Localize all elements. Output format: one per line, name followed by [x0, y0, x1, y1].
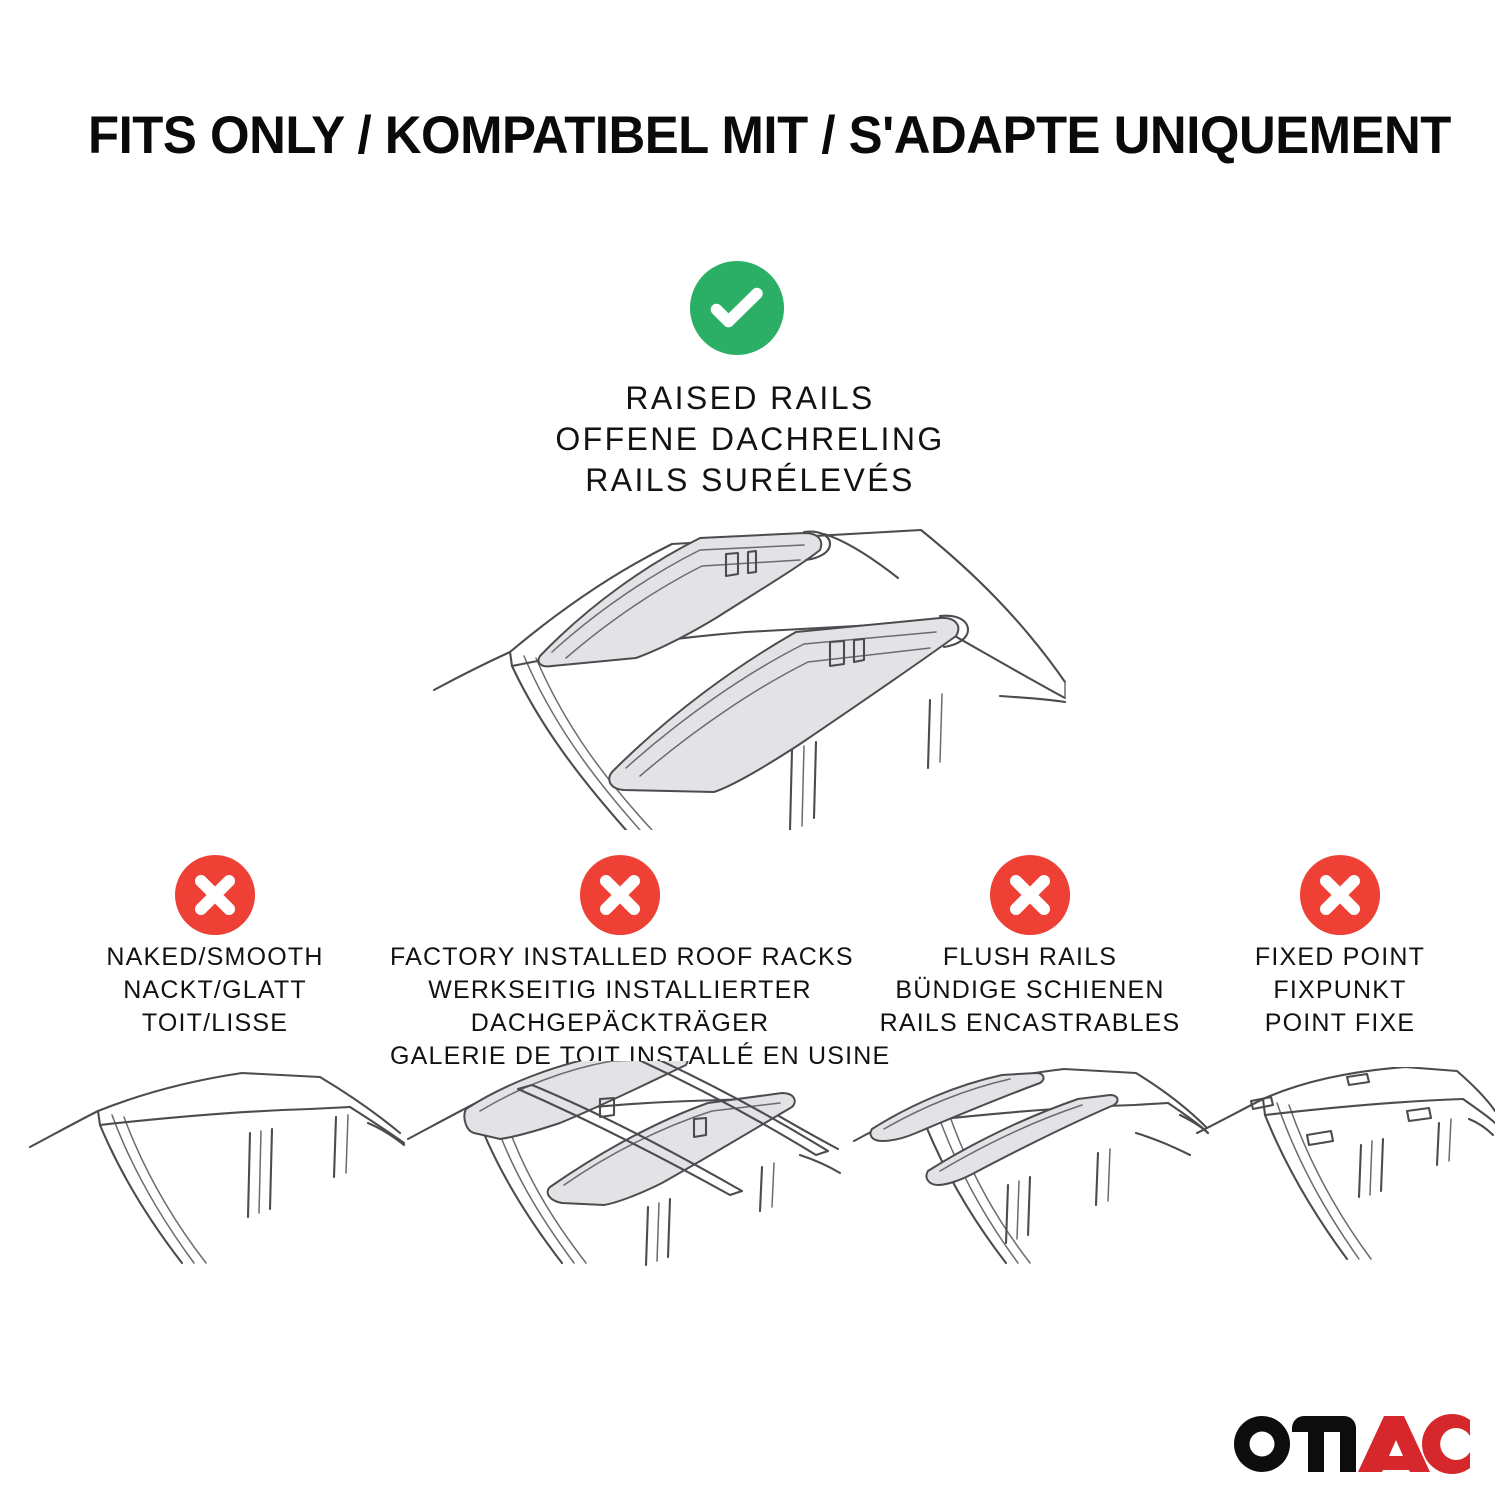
rejected-line-2: WERKSEITIG INSTALLIERTER: [390, 974, 850, 1007]
rejected-caption: NAKED/SMOOTH NACKT/GLATT TOIT/LISSE: [20, 941, 410, 1040]
x-glyph: [1300, 855, 1380, 935]
naked-roof-illustration: [20, 1067, 410, 1282]
rejected-line-3: RAILS ENCASTRABLES: [850, 1007, 1210, 1040]
x-circle-icon: [990, 855, 1070, 935]
rejected-line-1: FIXED POINT: [1195, 941, 1485, 974]
rejected-line-1: FACTORY INSTALLED ROOF RACKS: [390, 941, 850, 974]
check-circle-icon: [690, 261, 784, 355]
x-circle-icon: [175, 855, 255, 935]
rejected-line-3: POINT FIXE: [1195, 1007, 1485, 1040]
x-circle-icon: [1300, 855, 1380, 935]
check-glyph: [690, 261, 784, 355]
x-circle-icon: [580, 855, 660, 935]
factory-rack-illustration: [390, 1061, 850, 1276]
rejected-line-2: FIXPUNKT: [1195, 974, 1485, 1007]
rejected-line-3: DACHGEPÄCKTRÄGER: [390, 1007, 850, 1040]
x-glyph: [175, 855, 255, 935]
rejected-line-2: NACKT/GLATT: [20, 974, 410, 1007]
approved-line-1: RAISED RAILS: [380, 378, 1120, 419]
omac-logo: OMAC: [1232, 1408, 1470, 1474]
flush-rails-illustration: [850, 1067, 1210, 1282]
rejected-line-2: BÜNDIGE SCHIENEN: [850, 974, 1210, 1007]
fixed-point-illustration: [1195, 1067, 1485, 1282]
rejected-caption: FLUSH RAILS BÜNDIGE SCHIENEN RAILS ENCAS…: [850, 941, 1210, 1040]
rejected-caption: FIXED POINT FIXPUNKT POINT FIXE: [1195, 941, 1485, 1040]
x-glyph: [580, 855, 660, 935]
x-glyph: [990, 855, 1070, 935]
raised-rails-illustration: [400, 500, 1100, 830]
approved-caption: RAISED RAILS OFFENE DACHRELING RAILS SUR…: [380, 378, 1120, 501]
rejected-line-1: FLUSH RAILS: [850, 941, 1210, 974]
approved-line-2: OFFENE DACHRELING: [380, 419, 1120, 460]
rejected-caption: FACTORY INSTALLED ROOF RACKS WERKSEITIG …: [390, 941, 850, 1073]
rejected-section: NAKED/SMOOTH NACKT/GLATT TOIT/LISSE: [0, 845, 1500, 1295]
fitment-info-graphic: FITS ONLY / KOMPATIBEL MIT / S'ADAPTE UN…: [0, 0, 1500, 1500]
rejected-line-3: TOIT/LISSE: [20, 1007, 410, 1040]
approved-section: RAISED RAILS OFFENE DACHRELING RAILS SUR…: [0, 0, 1500, 850]
approved-line-3: RAILS SURÉLEVÉS: [380, 460, 1120, 501]
rejected-line-1: NAKED/SMOOTH: [20, 941, 410, 974]
